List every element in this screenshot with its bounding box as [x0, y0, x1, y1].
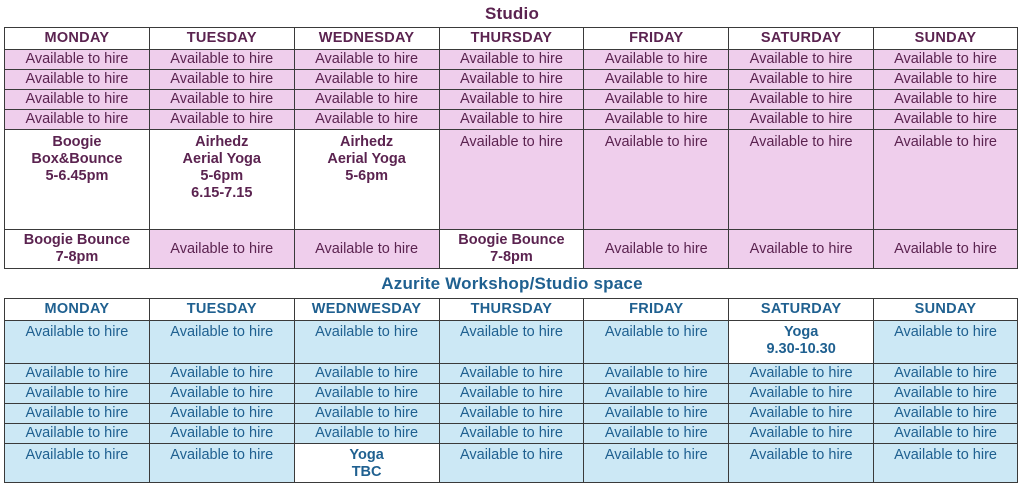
studio-available-cell[interactable]: Available to hire: [874, 90, 1018, 110]
studio-available-cell[interactable]: Available to hire: [294, 110, 439, 130]
azurite-available-cell[interactable]: Available to hire: [874, 424, 1018, 444]
studio-available-cell[interactable]: Available to hire: [149, 70, 294, 90]
studio-schedule-row: Available to hireAvailable to hireAvaila…: [5, 90, 1018, 110]
studio-schedule-row: Boogie Bounce7-8pmAvailable to hireAvail…: [5, 230, 1018, 269]
azurite-schedule-table: MONDAYTUESDAYWEDNWESDAYTHURSDAYFRIDAYSAT…: [4, 298, 1018, 483]
azurite-available-cell[interactable]: Available to hire: [294, 424, 439, 444]
azurite-available-cell[interactable]: Available to hire: [584, 424, 729, 444]
azurite-available-cell[interactable]: Available to hire: [149, 364, 294, 384]
studio-available-cell[interactable]: Available to hire: [729, 130, 874, 230]
azurite-available-cell[interactable]: Available to hire: [149, 444, 294, 483]
azurite-available-cell[interactable]: Available to hire: [874, 444, 1018, 483]
azurite-schedule-row: Available to hireAvailable to hireYogaTB…: [5, 444, 1018, 483]
studio-available-cell[interactable]: Available to hire: [584, 130, 729, 230]
azurite-available-cell[interactable]: Available to hire: [729, 404, 874, 424]
azurite-available-cell[interactable]: Available to hire: [439, 424, 584, 444]
azurite-available-cell[interactable]: Available to hire: [5, 384, 150, 404]
studio-available-cell[interactable]: Available to hire: [584, 70, 729, 90]
studio-available-cell[interactable]: Available to hire: [439, 50, 584, 70]
azurite-available-cell[interactable]: Available to hire: [439, 444, 584, 483]
studio-available-cell[interactable]: Available to hire: [5, 110, 150, 130]
studio-available-cell[interactable]: Available to hire: [5, 50, 150, 70]
azurite-available-cell[interactable]: Available to hire: [294, 384, 439, 404]
azurite-header-sunday: SUNDAY: [874, 299, 1018, 321]
azurite-available-cell[interactable]: Available to hire: [439, 404, 584, 424]
studio-available-cell[interactable]: Available to hire: [874, 110, 1018, 130]
studio-header-sunday: SUNDAY: [874, 28, 1018, 50]
studio-schedule-row: Available to hireAvailable to hireAvaila…: [5, 50, 1018, 70]
azurite-available-cell[interactable]: Available to hire: [5, 364, 150, 384]
studio-available-cell[interactable]: Available to hire: [5, 90, 150, 110]
studio-available-cell[interactable]: Available to hire: [874, 230, 1018, 269]
azurite-available-cell[interactable]: Available to hire: [584, 321, 729, 364]
schedule-page: Studio MONDAYTUESDAYWEDNESDAYTHURSDAYFRI…: [0, 0, 1024, 503]
booking-line: Aerial Yoga: [152, 151, 292, 168]
azurite-schedule-row: Available to hireAvailable to hireAvaila…: [5, 321, 1018, 364]
azurite-booked-cell[interactable]: YogaTBC: [294, 444, 439, 483]
studio-available-cell[interactable]: Available to hire: [5, 70, 150, 90]
studio-available-cell[interactable]: Available to hire: [294, 50, 439, 70]
azurite-header-wednwesday: WEDNWESDAY: [294, 299, 439, 321]
studio-available-cell[interactable]: Available to hire: [729, 70, 874, 90]
azurite-booked-cell[interactable]: Yoga9.30-10.30: [729, 321, 874, 364]
azurite-schedule-row: Available to hireAvailable to hireAvaila…: [5, 364, 1018, 384]
studio-available-cell[interactable]: Available to hire: [439, 110, 584, 130]
studio-booked-cell[interactable]: AirhedzAerial Yoga5-6pm6.15-7.15: [149, 130, 294, 230]
studio-available-cell[interactable]: Available to hire: [294, 230, 439, 269]
booking-line: Yoga: [297, 447, 437, 464]
azurite-available-cell[interactable]: Available to hire: [729, 364, 874, 384]
azurite-available-cell[interactable]: Available to hire: [584, 384, 729, 404]
studio-booked-cell[interactable]: BoogieBox&Bounce5-6.45pm: [5, 130, 150, 230]
studio-available-cell[interactable]: Available to hire: [584, 110, 729, 130]
studio-available-cell[interactable]: Available to hire: [874, 70, 1018, 90]
studio-available-cell[interactable]: Available to hire: [149, 110, 294, 130]
booking-line: 5-6pm: [152, 168, 292, 185]
booking-line: Yoga: [731, 324, 871, 341]
studio-available-cell[interactable]: Available to hire: [729, 230, 874, 269]
azurite-available-cell[interactable]: Available to hire: [874, 404, 1018, 424]
studio-schedule-table: MONDAYTUESDAYWEDNESDAYTHURSDAYFRIDAYSATU…: [4, 27, 1018, 269]
studio-available-cell[interactable]: Available to hire: [729, 90, 874, 110]
booking-line: 5-6.45pm: [7, 168, 147, 185]
azurite-available-cell[interactable]: Available to hire: [5, 424, 150, 444]
studio-header-monday: MONDAY: [5, 28, 150, 50]
azurite-available-cell[interactable]: Available to hire: [5, 444, 150, 483]
booking-line: Airhedz: [152, 134, 292, 151]
azurite-available-cell[interactable]: Available to hire: [874, 364, 1018, 384]
studio-schedule-row: Available to hireAvailable to hireAvaila…: [5, 110, 1018, 130]
studio-available-cell[interactable]: Available to hire: [439, 70, 584, 90]
azurite-available-cell[interactable]: Available to hire: [584, 444, 729, 483]
azurite-header-tuesday: TUESDAY: [149, 299, 294, 321]
studio-available-cell[interactable]: Available to hire: [874, 50, 1018, 70]
studio-available-cell[interactable]: Available to hire: [584, 50, 729, 70]
azurite-available-cell[interactable]: Available to hire: [729, 444, 874, 483]
azurite-schedule-row: Available to hireAvailable to hireAvaila…: [5, 424, 1018, 444]
azurite-available-cell[interactable]: Available to hire: [584, 364, 729, 384]
azurite-available-cell[interactable]: Available to hire: [439, 321, 584, 364]
studio-available-cell[interactable]: Available to hire: [439, 90, 584, 110]
studio-available-cell[interactable]: Available to hire: [149, 230, 294, 269]
booking-line: 5-6pm: [297, 168, 437, 185]
studio-table-body: Available to hireAvailable to hireAvaila…: [5, 50, 1018, 269]
studio-available-cell[interactable]: Available to hire: [439, 130, 584, 230]
studio-schedule-row: BoogieBox&Bounce5-6.45pmAirhedzAerial Yo…: [5, 130, 1018, 230]
azurite-available-cell[interactable]: Available to hire: [439, 364, 584, 384]
azurite-header-saturday: SATURDAY: [729, 299, 874, 321]
azurite-available-cell[interactable]: Available to hire: [584, 404, 729, 424]
azurite-table-head: MONDAYTUESDAYWEDNWESDAYTHURSDAYFRIDAYSAT…: [5, 299, 1018, 321]
azurite-available-cell[interactable]: Available to hire: [149, 404, 294, 424]
booking-line: 6.15-7.15: [152, 185, 292, 202]
booking-line: Boogie: [7, 134, 147, 151]
azurite-available-cell[interactable]: Available to hire: [5, 404, 150, 424]
studio-available-cell[interactable]: Available to hire: [874, 130, 1018, 230]
booking-line: 9.30-10.30: [731, 341, 871, 358]
azurite-available-cell[interactable]: Available to hire: [874, 321, 1018, 364]
booking-line: Boogie Bounce: [442, 232, 582, 249]
azurite-available-cell[interactable]: Available to hire: [729, 424, 874, 444]
booking-line: Box&Bounce: [7, 151, 147, 168]
booking-line: 7-8pm: [7, 249, 147, 266]
booking-line: 7-8pm: [442, 249, 582, 266]
studio-available-cell[interactable]: Available to hire: [294, 70, 439, 90]
studio-header-saturday: SATURDAY: [729, 28, 874, 50]
booking-line: Boogie Bounce: [7, 232, 147, 249]
studio-header-friday: FRIDAY: [584, 28, 729, 50]
studio-header-row: MONDAYTUESDAYWEDNESDAYTHURSDAYFRIDAYSATU…: [5, 28, 1018, 50]
azurite-available-cell[interactable]: Available to hire: [294, 321, 439, 364]
azurite-available-cell[interactable]: Available to hire: [874, 384, 1018, 404]
azurite-section-title: Azurite Workshop/Studio space: [0, 269, 1024, 298]
studio-available-cell[interactable]: Available to hire: [149, 50, 294, 70]
booking-line: Aerial Yoga: [297, 151, 437, 168]
studio-section-title: Studio: [0, 0, 1024, 27]
azurite-available-cell[interactable]: Available to hire: [294, 404, 439, 424]
studio-available-cell[interactable]: Available to hire: [729, 50, 874, 70]
studio-available-cell[interactable]: Available to hire: [584, 90, 729, 110]
azurite-schedule-row: Available to hireAvailable to hireAvaila…: [5, 384, 1018, 404]
booking-line: TBC: [297, 464, 437, 481]
studio-header-wednesday: WEDNESDAY: [294, 28, 439, 50]
azurite-available-cell[interactable]: Available to hire: [149, 384, 294, 404]
studio-booked-cell[interactable]: Boogie Bounce7-8pm: [439, 230, 584, 269]
azurite-available-cell[interactable]: Available to hire: [439, 384, 584, 404]
studio-available-cell[interactable]: Available to hire: [294, 90, 439, 110]
azurite-available-cell[interactable]: Available to hire: [149, 424, 294, 444]
azurite-available-cell[interactable]: Available to hire: [5, 321, 150, 364]
studio-header-tuesday: TUESDAY: [149, 28, 294, 50]
booking-line: Airhedz: [297, 134, 437, 151]
azurite-available-cell[interactable]: Available to hire: [149, 321, 294, 364]
azurite-header-friday: FRIDAY: [584, 299, 729, 321]
studio-available-cell[interactable]: Available to hire: [584, 230, 729, 269]
azurite-schedule-row: Available to hireAvailable to hireAvaila…: [5, 404, 1018, 424]
azurite-header-thursday: THURSDAY: [439, 299, 584, 321]
studio-table-head: MONDAYTUESDAYWEDNESDAYTHURSDAYFRIDAYSATU…: [5, 28, 1018, 50]
azurite-available-cell[interactable]: Available to hire: [729, 384, 874, 404]
studio-available-cell[interactable]: Available to hire: [149, 90, 294, 110]
studio-header-thursday: THURSDAY: [439, 28, 584, 50]
azurite-available-cell[interactable]: Available to hire: [294, 364, 439, 384]
azurite-table-body: Available to hireAvailable to hireAvaila…: [5, 321, 1018, 483]
studio-booked-cell[interactable]: AirhedzAerial Yoga5-6pm: [294, 130, 439, 230]
azurite-header-monday: MONDAY: [5, 299, 150, 321]
studio-schedule-row: Available to hireAvailable to hireAvaila…: [5, 70, 1018, 90]
studio-booked-cell[interactable]: Boogie Bounce7-8pm: [5, 230, 150, 269]
studio-available-cell[interactable]: Available to hire: [729, 110, 874, 130]
azurite-header-row: MONDAYTUESDAYWEDNWESDAYTHURSDAYFRIDAYSAT…: [5, 299, 1018, 321]
